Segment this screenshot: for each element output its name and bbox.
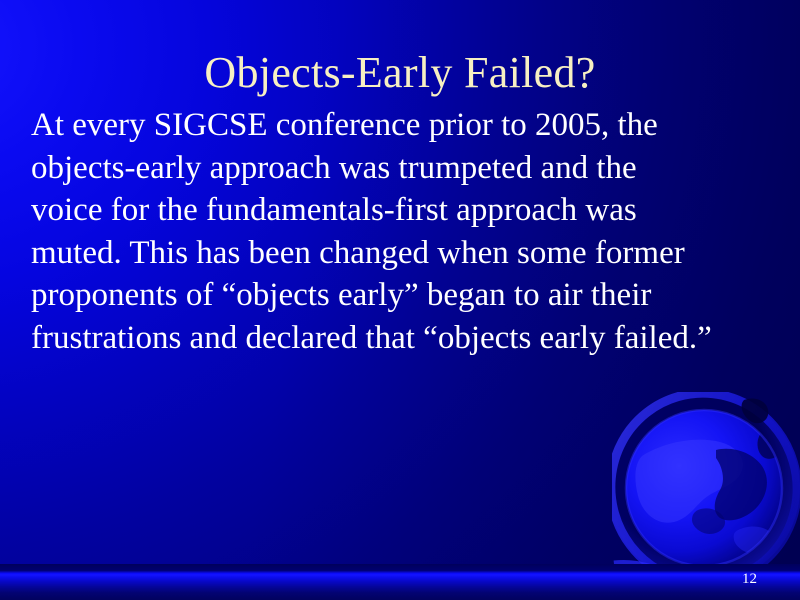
- page-number: 12: [742, 570, 782, 588]
- globe-icon: [612, 392, 800, 592]
- slide-body-text: At every SIGCSE conference prior to 2005…: [31, 104, 783, 360]
- body-line: frustrations and declared that “objects …: [31, 317, 783, 360]
- body-line: objects-early approach was trumpeted and…: [31, 147, 783, 190]
- body-line: proponents of “objects early” began to a…: [31, 274, 783, 317]
- slide-canvas: Objects-Early Failed? At every SIGCSE co…: [0, 0, 800, 600]
- bottom-accent-bar: [0, 564, 800, 600]
- body-line: voice for the fundamentals-first approac…: [31, 189, 783, 232]
- slide-title: Objects-Early Failed?: [0, 47, 800, 99]
- body-line: At every SIGCSE conference prior to 2005…: [31, 104, 783, 147]
- body-line: muted. This has been changed when some f…: [31, 232, 783, 275]
